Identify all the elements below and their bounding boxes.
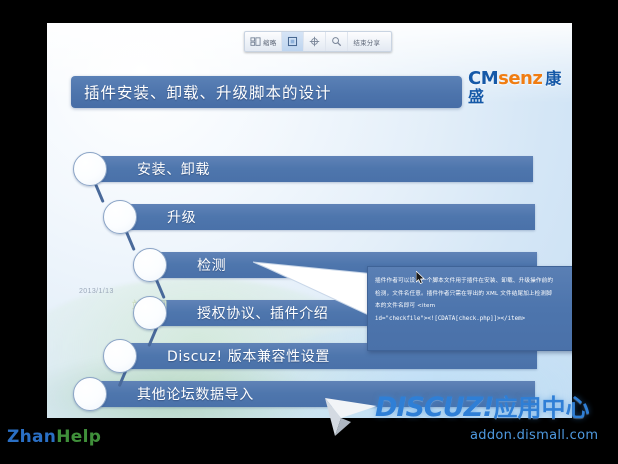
discuz-logo-cn: 应用中心 <box>494 394 590 422</box>
mouse-cursor-icon <box>416 271 425 284</box>
discuz-logo: DISCUZ!应用中心 <box>375 394 590 421</box>
zhanhelp-part-1: Zhan <box>7 427 56 447</box>
chain-knob-1 <box>73 152 107 186</box>
chain-bar-6-label: 其他论坛数据导入 <box>137 384 254 404</box>
zhanhelp-part-2: Help <box>56 427 101 447</box>
center-icon <box>309 36 320 47</box>
chain-bar-3-label: 检测 <box>197 255 226 275</box>
discuz-logo-name: DISCUZ! <box>375 392 494 423</box>
callout-pointer <box>253 252 375 318</box>
presentation-slide: CMsenz康盛 插件安装、卸载、升级脚本的设计 安装、卸载 <box>47 23 572 418</box>
chain-bar-5-label: Discuz! 版本兼容性设置 <box>167 346 330 366</box>
toolbar-thumbnail-button[interactable]: 缩略 <box>245 32 282 51</box>
video-stage: CMsenz康盛 插件安装、卸载、升级脚本的设计 安装、卸载 <box>0 0 618 464</box>
chain-knob-2 <box>103 200 137 234</box>
chain-bar-2[interactable]: 升级 <box>125 204 535 230</box>
callout-line-2: 检测，文件名任意。插件作者只需在导出的 XML 文件结尾加上检测脚 <box>375 288 572 301</box>
zhanhelp-badge: ZhanHelp <box>7 427 101 447</box>
player-toolbar[interactable]: 缩略 <box>244 31 392 52</box>
toolbar-center-button[interactable] <box>304 32 326 51</box>
slide-date: 2013/1/13 <box>79 288 114 295</box>
thumbnail-icon <box>250 36 261 47</box>
chain-knob-3 <box>133 248 167 282</box>
toolbar-thumbnail-label: 缩略 <box>263 37 276 47</box>
chain-knob-5 <box>103 339 137 373</box>
toolbar-fit-page-button[interactable] <box>282 32 304 51</box>
discuz-url: addon.dismall.com <box>470 428 598 443</box>
slide-title: 插件安装、卸载、升级脚本的设计 <box>71 76 462 108</box>
chain-bar-1-label: 安装、卸载 <box>137 159 210 179</box>
chain-bar-1[interactable]: 安装、卸载 <box>95 156 533 182</box>
fit-page-icon <box>287 36 298 47</box>
chain-knob-4 <box>133 296 167 330</box>
slide-title-text: 插件安装、卸载、升级脚本的设计 <box>84 81 332 103</box>
chain-bar-2-label: 升级 <box>167 207 196 227</box>
comsenz-logo-mid: senz <box>498 68 542 89</box>
callout-line-1: 插件作者可以设计一个脚本文件用于插件在安装、卸载、升级操作前的 <box>375 275 572 288</box>
callout-box: 插件作者可以设计一个脚本文件用于插件在安装、卸载、升级操作前的 检测，文件名任意… <box>367 266 572 351</box>
comsenz-logo: CMsenz康盛 <box>468 70 572 106</box>
callout-line-3: 本的文件名即可 <item <box>375 300 572 313</box>
chain-knob-6 <box>73 377 107 411</box>
callout-line-4: id="checkfile"><![CDATA[check.php]]></it… <box>375 313 572 326</box>
comsenz-logo-prefix: CM <box>468 68 498 89</box>
screen-root: CMsenz康盛 插件安装、卸载、升级脚本的设计 安装、卸载 <box>0 0 618 464</box>
toolbar-end-share-button[interactable]: 结束分享 <box>348 32 385 51</box>
magnifier-icon <box>331 36 342 47</box>
toolbar-end-share-label: 结束分享 <box>353 37 380 47</box>
discuz-overlay: DISCUZ!应用中心 addon.dismall.com <box>315 392 618 448</box>
toolbar-zoom-button[interactable] <box>326 32 348 51</box>
